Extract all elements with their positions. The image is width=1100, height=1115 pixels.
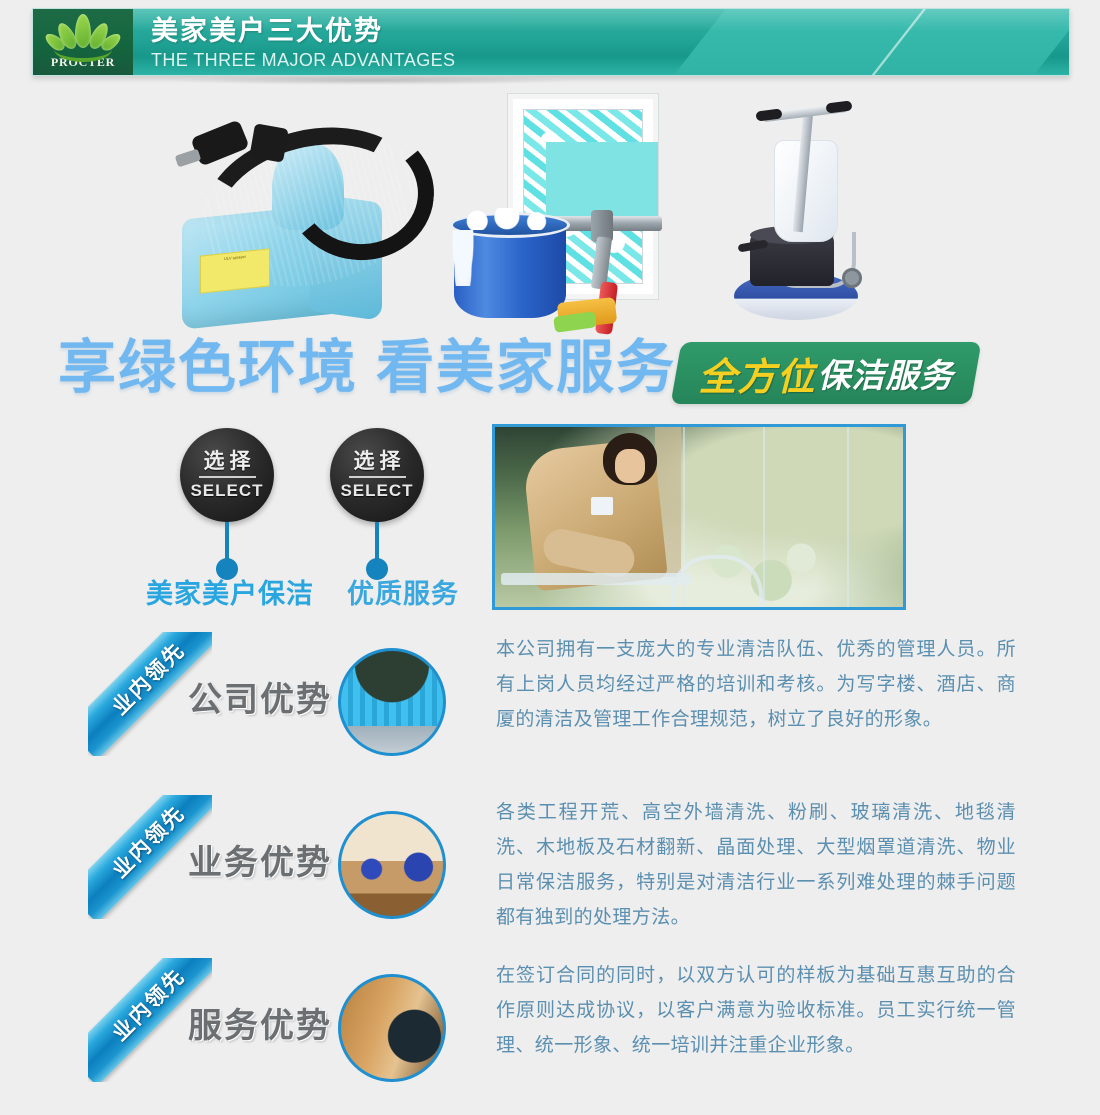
advantage-title: 公司优势 [188,672,338,721]
ribbon-label: 业内领先 [105,961,191,1047]
select-badge-1-en: SELECT [190,481,263,501]
service-banner-highlight: 全方位 [698,346,815,401]
select-badge-2[interactable]: 选择 SELECT [330,428,424,522]
ribbon-label: 业内领先 [105,798,191,884]
advantage-description: 在签订合同的同时，以双方认可的样板为基础互惠互助的合作原则达成协议，以客户满意为… [496,958,1016,1063]
indoor-cleaning-photo [338,811,446,919]
ulv-sprayer-image: ULV sprayer [160,102,430,332]
ribbon-label: 业内领先 [105,635,191,721]
header-title-cn: 美家美户三大优势 [151,15,455,47]
page-header: PROCTER 美家美户三大优势 THE THREE MAJOR ADVANTA… [32,8,1070,80]
service-banner: 全方位 保洁服务 [671,342,982,404]
squeegee-clean-area [546,142,658,218]
leaf-crown-icon [46,12,120,54]
staff-lineup-photo [338,648,446,756]
select-badge-2-cn: 选择 [349,450,406,478]
cleaner-wiping-glass-table-photo [492,424,906,610]
advantage-rows: 业内领先 公司优势 本公司拥有一支庞大的专业清洁队伍、优秀的管理人员。所有上岗人… [0,626,1100,1115]
product-photo-strip: ULV sprayer [0,92,1100,347]
select-stem-1 [225,522,229,562]
select-badge-1-cn: 选择 [199,450,256,478]
window-cleaning-kit-image [450,92,680,337]
company-logo: PROCTER [33,9,133,75]
floor-polisher-image [710,92,920,340]
select-badge-2-en: SELECT [340,481,413,501]
header-bar: PROCTER 美家美户三大优势 THE THREE MAJOR ADVANTA… [32,8,1070,76]
header-titles: 美家美户三大优势 THE THREE MAJOR ADVANTAGES [151,15,455,72]
advantage-row: 业内领先 公司优势 本公司拥有一支庞大的专业清洁队伍、优秀的管理人员。所有上岗人… [0,626,1100,789]
select-badge-labels: 美家美户保洁 优质服务 [146,572,459,611]
select-label-2: 优质服务 [347,579,459,609]
header-title-en: THE THREE MAJOR ADVANTAGES [151,48,455,72]
service-banner-rest: 保洁服务 [818,349,954,397]
advantage-title: 服务优势 [188,998,338,1047]
header-drop-shadow [172,76,572,85]
select-label-1: 美家美户保洁 [146,579,314,609]
select-circle-icon[interactable]: 选择 SELECT [180,428,274,522]
select-badge-1[interactable]: 选择 SELECT [180,428,274,522]
advantage-row: 业内领先 业务优势 各类工程开荒、高空外墙清洗、粉刷、玻璃清洗、地毯清洗、木地板… [0,789,1100,952]
select-stem-2 [375,522,379,562]
advantage-row: 业内领先 服务优势 在签订合同的同时，以双方认可的样板为基础互惠互助的合作原则达… [0,952,1100,1115]
wall-spraying-photo [338,974,446,1082]
main-headline: 享绿色环境 看美家服务 [58,336,676,400]
advantage-description: 本公司拥有一支庞大的专业清洁队伍、优秀的管理人员。所有上岗人员均经过严格的培训和… [496,632,1016,737]
advantage-description: 各类工程开荒、高空外墙清洗、粉刷、玻璃清洗、地毯清洗、木地板及石材翻新、晶面处理… [496,795,1016,935]
select-circle-icon[interactable]: 选择 SELECT [330,428,424,522]
advantage-title: 业务优势 [188,835,338,884]
sprayer-spec-label: ULV sprayer [200,248,270,293]
advantages-page: PROCTER 美家美户三大优势 THE THREE MAJOR ADVANTA… [0,0,1100,1096]
